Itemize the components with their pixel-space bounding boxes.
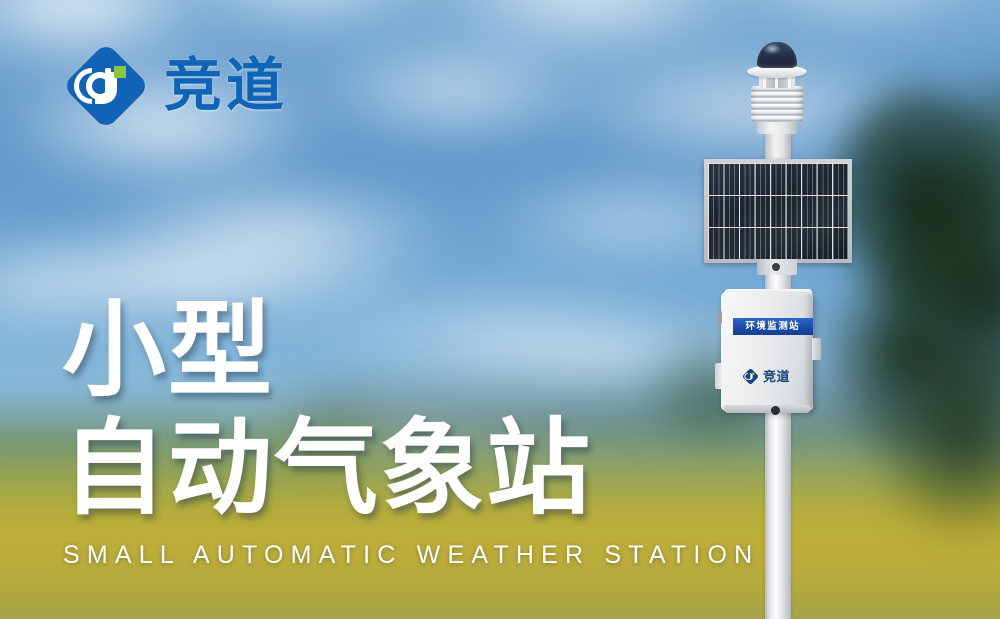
enclosure-right-latch — [812, 338, 821, 360]
enclosure-left-latch — [718, 311, 722, 324]
page-title: 小型 自动气象站 — [62, 298, 592, 522]
enclosure-brand-name: 竞道 — [763, 370, 790, 383]
radiation-shield-icon — [751, 86, 803, 122]
sensor-base — [757, 120, 797, 134]
solar-panel-icon — [704, 159, 852, 263]
poster-canvas: 竞道 小型 自动气象站 SMALL AUTOMATIC WEATHER STAT… — [0, 0, 1000, 619]
enclosure-banner: 环境监测站 — [733, 318, 813, 335]
enclosure-bottom — [724, 405, 810, 413]
solar-panel-bolt — [772, 263, 780, 271]
enclosure-box — [721, 292, 813, 411]
headline-subtitle: SMALL AUTOMATIC WEATHER STATION — [63, 541, 759, 570]
headline-line-2: 自动气象站 — [62, 416, 592, 522]
headline-line-1: 小型 — [62, 298, 592, 404]
enclosure-banner-label: 环境监测站 — [746, 322, 801, 332]
jingdao-diamond-logo-icon — [742, 368, 759, 385]
brand-name: 竞道 — [164, 57, 288, 115]
pole-fixing-screw — [771, 406, 780, 415]
solar-cells — [708, 163, 848, 259]
enclosure-left-hinge — [715, 363, 722, 389]
foreground-tree — [820, 60, 1000, 540]
jingdao-diamond-logo-icon — [62, 42, 150, 130]
brand-logo[interactable]: 竞道 — [62, 42, 288, 130]
enclosure-brand-logo: 竞道 — [742, 368, 790, 385]
